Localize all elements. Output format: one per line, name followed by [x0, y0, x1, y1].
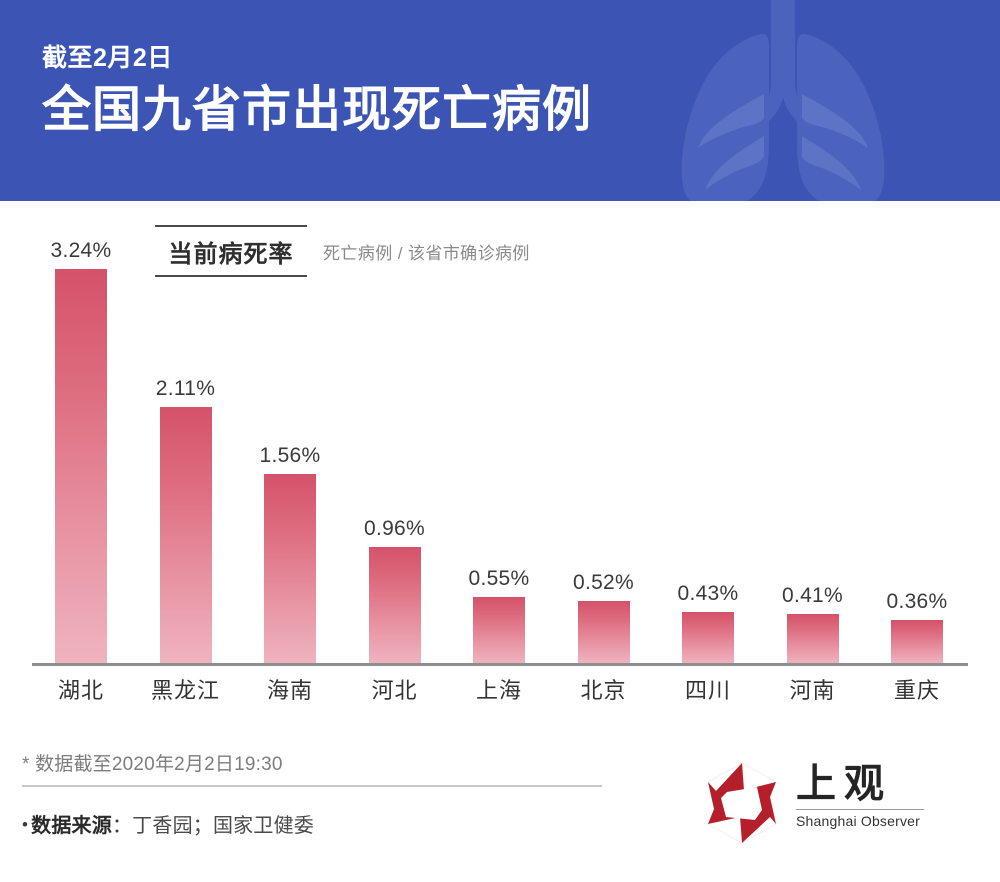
bar — [264, 474, 316, 664]
x-axis-tick-label: 河北 — [343, 673, 447, 705]
bar — [682, 612, 734, 664]
source-bullet-icon: • — [22, 815, 28, 834]
footer: * 数据截至2020年2月2日19:30 •数据来源：丁香园；国家卫健委 上观 … — [0, 719, 1000, 882]
bar-value-label: 0.96% — [343, 517, 447, 541]
data-source-line: •数据来源：丁香园；国家卫健委 — [22, 809, 314, 838]
bar-value-label: 0.52% — [552, 571, 656, 595]
bar-column: 3.24% — [55, 201, 107, 664]
bar-value-label: 1.56% — [238, 444, 342, 468]
bar-value-label: 0.43% — [656, 582, 760, 606]
x-axis-tick-label: 四川 — [656, 673, 760, 705]
x-axis-tick-label: 河南 — [761, 673, 865, 705]
bar — [473, 597, 525, 664]
bar-value-label: 2.11% — [134, 377, 238, 401]
header-eyebrow: 截至2月2日 — [42, 44, 592, 73]
header-banner: 截至2月2日 全国九省市出现死亡病例 — [0, 0, 1000, 201]
bar-column: 1.56% — [264, 201, 316, 664]
data-asof-note: * 数据截至2020年2月2日19:30 — [22, 749, 283, 776]
bar-column: 0.36% — [891, 201, 943, 664]
source-label: 数据来源 — [31, 815, 112, 837]
bar-value-label: 3.24% — [29, 239, 133, 263]
chart-plot-area: 3.24%2.11%1.56%0.96%0.55%0.52%0.43%0.41%… — [32, 201, 968, 664]
bar — [160, 407, 212, 664]
bar — [787, 614, 839, 664]
logo-rule — [796, 809, 924, 810]
bar-column: 0.43% — [682, 201, 734, 664]
source-value: 丁香园；国家卫健委 — [132, 815, 314, 837]
x-axis-tick-label: 湖北 — [29, 673, 133, 705]
header-text-block: 截至2月2日 全国九省市出现死亡病例 — [42, 44, 592, 140]
page-title: 全国九省市出现死亡病例 — [42, 82, 592, 140]
bar-column: 0.96% — [369, 201, 421, 664]
bar-column: 0.52% — [578, 201, 630, 664]
bar — [369, 547, 421, 664]
x-axis-line — [32, 663, 968, 666]
bar — [55, 269, 107, 664]
x-axis-tick-label: 海南 — [238, 673, 342, 705]
logo-name-en: Shanghai Observer — [796, 813, 926, 829]
logo-wordmark: 上观 Shanghai Observer — [796, 763, 926, 829]
bar-column: 0.55% — [473, 201, 525, 664]
source-separator: ： — [112, 815, 132, 837]
bar-value-label: 0.36% — [865, 590, 969, 614]
bar — [891, 620, 943, 664]
bar-column: 0.41% — [787, 201, 839, 664]
x-axis-tick-label: 上海 — [447, 673, 551, 705]
lungs-illustration-icon — [618, 0, 948, 201]
aperture-hexagon-icon — [700, 761, 784, 845]
bar-chart: 3.24%2.11%1.56%0.96%0.55%0.52%0.43%0.41%… — [0, 201, 1000, 719]
bar-column: 2.11% — [160, 201, 212, 664]
x-axis-tick-label: 北京 — [552, 673, 656, 705]
x-axis-tick-label: 重庆 — [865, 673, 969, 705]
bar-value-label: 0.41% — [761, 584, 865, 608]
logo-name-cn: 上观 — [796, 763, 926, 805]
footer-divider — [22, 785, 602, 787]
bar-value-label: 0.55% — [447, 567, 551, 591]
x-axis-tick-label: 黑龙江 — [134, 673, 238, 705]
bar — [578, 601, 630, 664]
brand-logo: 上观 Shanghai Observer — [700, 761, 930, 851]
